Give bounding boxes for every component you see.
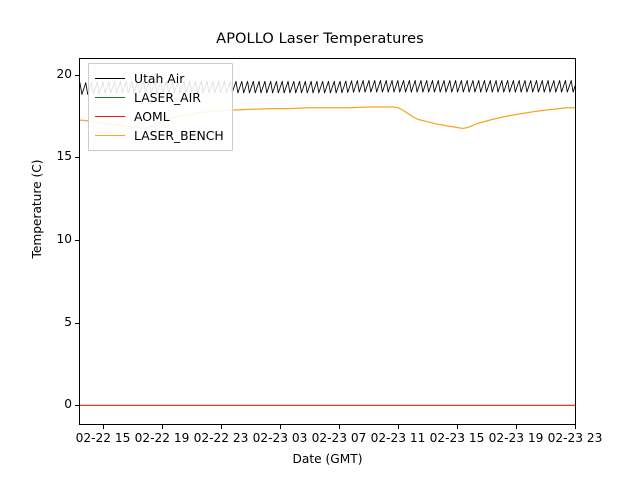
y-tick-label: 15 <box>0 151 72 161</box>
legend-item-label: LASER_AIR <box>134 90 201 105</box>
legend-swatch-icon <box>95 78 125 79</box>
legend-swatch-icon <box>95 135 125 136</box>
x-tick-mark <box>575 425 576 429</box>
y-tick-label: 20 <box>0 69 72 79</box>
legend-item-laser-bench[interactable]: LASER_BENCH <box>95 126 224 145</box>
x-tick-mark <box>221 425 222 429</box>
x-tick-mark <box>457 425 458 429</box>
legend-item-label: AOML <box>134 109 170 124</box>
x-tick-mark <box>280 425 281 429</box>
x-tick-mark <box>516 425 517 429</box>
x-tick-label: 02-23 23 <box>515 431 635 445</box>
legend-item-utah-air[interactable]: Utah Air <box>95 69 224 88</box>
y-tick-label: 0 <box>0 399 72 409</box>
legend-item-aoml[interactable]: AOML <box>95 107 224 126</box>
chart-title: APOLLO Laser Temperatures <box>0 31 640 47</box>
y-axis-label: Temperature (C) <box>30 69 44 349</box>
legend-item-label: LASER_BENCH <box>134 128 224 143</box>
x-tick-mark <box>398 425 399 429</box>
chart-legend: Utah AirLASER_AIRAOMLLASER_BENCH <box>88 63 233 151</box>
legend-item-laser-air[interactable]: LASER_AIR <box>95 88 224 107</box>
chart-figure: APOLLO Laser Temperatures Temperature (C… <box>0 0 640 480</box>
x-tick-mark <box>339 425 340 429</box>
y-tick-label: 5 <box>0 317 72 327</box>
legend-swatch-icon <box>95 116 125 117</box>
x-axis-label: Date (GMT) <box>79 452 576 466</box>
legend-item-label: Utah Air <box>134 71 184 86</box>
legend-swatch-icon <box>95 97 125 98</box>
x-tick-mark <box>162 425 163 429</box>
x-tick-mark <box>103 425 104 429</box>
y-tick-label: 10 <box>0 234 72 244</box>
